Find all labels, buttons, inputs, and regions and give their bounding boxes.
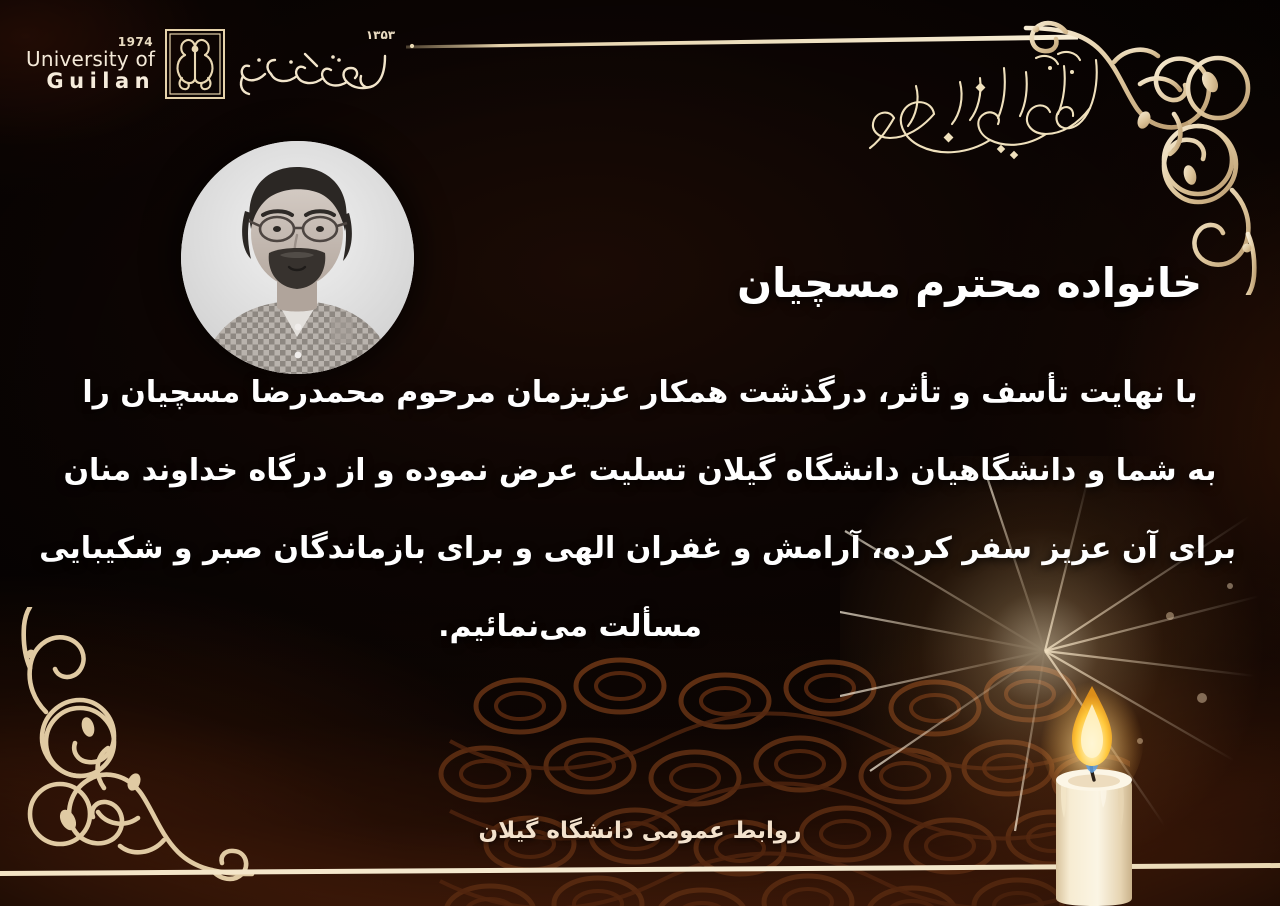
university-logo: 1974 University of Guilan ۱۳۵۳ [26, 28, 395, 100]
portrait-photo-icon [181, 141, 414, 374]
logo-line-university-of: University of [26, 49, 155, 69]
logo-english-text: 1974 University of Guilan [26, 36, 155, 92]
condolence-banner: 1974 University of Guilan ۱۳۵۳ [0, 0, 1280, 906]
message-line-2: به شما و دانشگاهیان دانشگاه گیلان تسلیت … [44, 456, 1236, 486]
university-emblem-icon [164, 28, 226, 100]
logo-persian-wordmark-icon [235, 44, 395, 100]
logo-persian-text: ۱۳۵۳ [235, 28, 395, 100]
message-line-1: با نهایت تأسف و تأثر، درگذشت همکار عزیزم… [44, 378, 1236, 408]
salutation-text: خانواده محترم مسچیان [642, 258, 1202, 309]
message-line-4: مسألت می‌نمائیم. [44, 612, 1236, 642]
footer-credit: روابط عمومی دانشگاه گیلان [0, 818, 1280, 844]
message-body: با نهایت تأسف و تأثر، درگذشت همکار عزیزم… [44, 378, 1236, 642]
deceased-portrait [181, 141, 414, 374]
logo-line-guilan: Guilan [46, 71, 155, 92]
logo-year-hijri: ۱۳۵۳ [366, 28, 395, 42]
message-line-3: برای آن عزیز سفر کرده، آرامش و غفران اله… [44, 534, 1236, 564]
